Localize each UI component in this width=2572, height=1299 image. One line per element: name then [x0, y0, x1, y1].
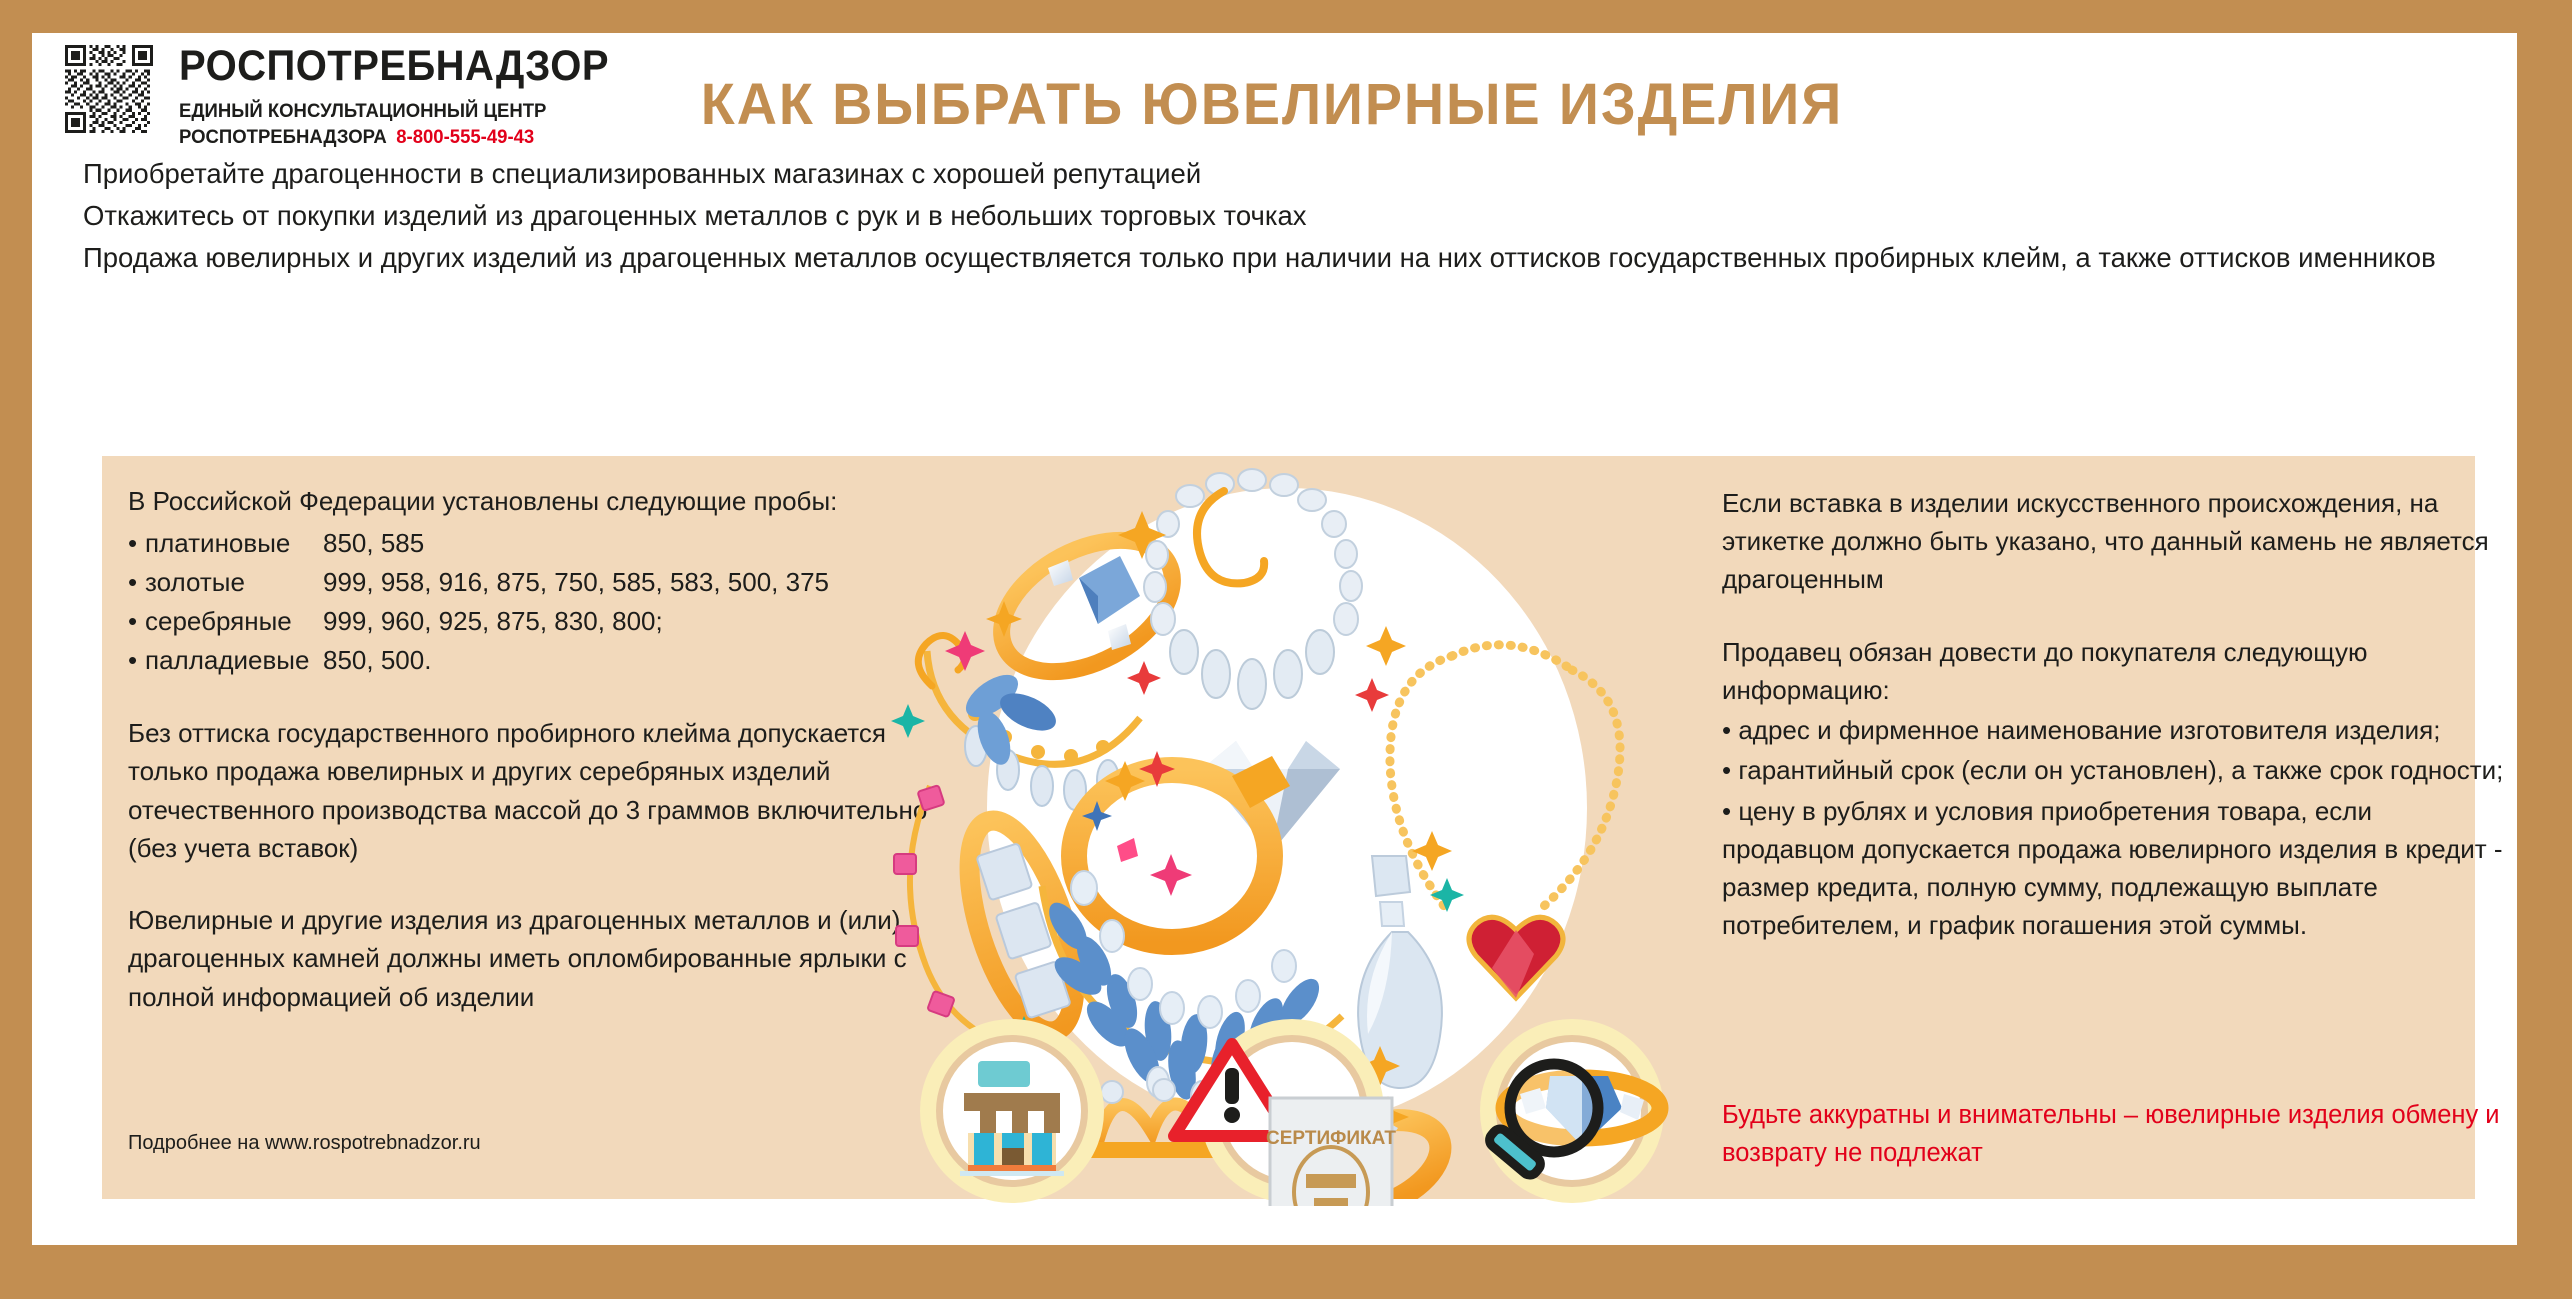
- website-footnote[interactable]: Подробнее на www.rospotrebnadzor.ru: [128, 1132, 481, 1155]
- list-item: • серебряные 999, 960, 925, 875, 830, 80…: [128, 602, 928, 641]
- intro-line-1: Приобретайте драгоценности в специализир…: [83, 154, 2473, 193]
- proby-values: 850, 585: [323, 524, 928, 563]
- content-panel: В Российской Федерации установлены следу…: [102, 456, 2475, 1199]
- left-paragraph-1: Без оттиска государственного пробирного …: [128, 714, 928, 867]
- proby-lead: В Российской Федерации установлены следу…: [128, 482, 928, 520]
- proby-values: 999, 960, 925, 875, 830, 800;: [323, 602, 928, 641]
- list-item: • золотые 999, 958, 916, 875, 750, 585, …: [128, 563, 928, 602]
- certificate-badge: СЕРТИФИКАТ: [1174, 1019, 1396, 1206]
- proby-metal: серебряные: [145, 602, 323, 641]
- list-item: • адрес и фирменное наименование изготов…: [1722, 711, 2512, 749]
- certificate-icon: СЕРТИФИКАТ: [1266, 1098, 1396, 1206]
- left-column: В Российской Федерации установлены следу…: [128, 482, 928, 1016]
- bullet-icon: •: [128, 563, 145, 602]
- right-column: Если вставка в изделии искусственного пр…: [1722, 484, 2512, 944]
- proby-metal: платиновые: [145, 524, 323, 563]
- rospotrebnadzor-genitive: РОСПОТРЕБНАДЗОРА: [179, 126, 387, 148]
- seller-duty-intro: Продавец обязан довести до покупателя сл…: [1722, 633, 2512, 709]
- bullet-icon: •: [128, 641, 145, 680]
- proby-values: 850, 500.: [323, 641, 928, 680]
- intro-line-3: Продажа ювелирных и других изделий из др…: [83, 238, 2473, 277]
- bullet-icon: •: [128, 524, 145, 563]
- proby-metal: палладиевые: [145, 641, 323, 680]
- bullet-icon: •: [128, 602, 145, 641]
- page-title: КАК ВЫБРАТЬ ЮВЕЛИРНЫЕ ИЗДЕЛИЯ: [504, 71, 2040, 138]
- badge-row: СЕРТИФИКАТ: [882, 1016, 1702, 1206]
- proby-list: • платиновые 850, 585 • золотые 999, 958…: [128, 524, 928, 680]
- shop-badge: [920, 1019, 1104, 1203]
- intro-line-2: Откажитесь от покупки изделий из драгоце…: [83, 196, 2473, 235]
- list-item: • платиновые 850, 585: [128, 524, 928, 563]
- warning-text: Будьте аккуратны и внимательны – ювелирн…: [1722, 1096, 2522, 1173]
- inspect-badge: [1480, 1019, 1664, 1203]
- list-item: • палладиевые 850, 500.: [128, 641, 928, 680]
- intro-paragraphs: Приобретайте драгоценности в специализир…: [83, 154, 2473, 277]
- list-item: • цену в рублях и условия приобретения т…: [1722, 792, 2512, 945]
- left-paragraph-2: Ювелирные и другие изделия из драгоценны…: [128, 901, 928, 1016]
- list-item: • гарантийный срок (если он установлен),…: [1722, 751, 2512, 789]
- poster-header: РОСПОТРЕБНАДЗОР ЕДИНЫЙ КОНСУЛЬТАЦИОННЫЙ …: [32, 33, 2517, 168]
- qr-code-icon: [65, 45, 153, 133]
- proby-metal: золотые: [145, 563, 323, 602]
- proby-values: 999, 958, 916, 875, 750, 585, 583, 500, …: [323, 563, 928, 602]
- poster-card: РОСПОТРЕБНАДЗОР ЕДИНЫЙ КОНСУЛЬТАЦИОННЫЙ …: [32, 33, 2517, 1245]
- right-paragraph-1: Если вставка в изделии искусственного пр…: [1722, 484, 2512, 599]
- poster-root: РОСПОТРЕБНАДЗОР ЕДИНЫЙ КОНСУЛЬТАЦИОННЫЙ …: [0, 0, 2572, 1299]
